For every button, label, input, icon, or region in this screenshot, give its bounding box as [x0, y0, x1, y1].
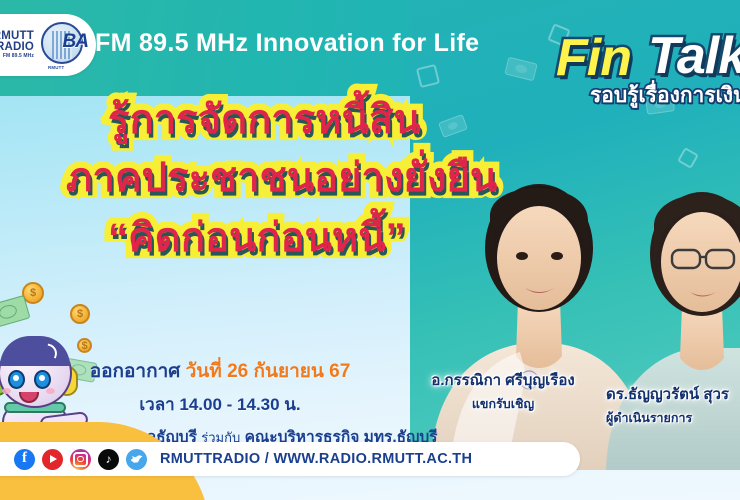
instagram-icon[interactable] [70, 449, 91, 470]
program-logo-fin: Fin [556, 32, 631, 84]
facebook-icon[interactable] [14, 449, 35, 470]
air-time: เวลา 14.00 - 14.30 น. [0, 391, 440, 418]
headline-block: รู้การจัดการหนี้สิน ภาคประชาชนอย่างยั่งย… [52, 96, 472, 282]
speaker-caption-host: ดร.ธัญญวรัตน์ สุวร ผู้ดำเนินรายการ [606, 382, 740, 428]
headline-line-1: รู้การจัดการหนี้สิน [108, 100, 421, 140]
station-logo-wordmark: RMUTT RADIO FM 89.5 MHz [0, 31, 34, 60]
air-date: วันที่ 26 กันยายน 67 [186, 361, 351, 382]
speaker-role: แขกรับเชิญ [412, 394, 594, 414]
twitter-icon[interactable] [126, 449, 147, 470]
ba-logo-subtext: RMUTT [48, 65, 64, 70]
tiktok-icon[interactable] [98, 449, 119, 470]
speaker-role: ผู้ดำเนินรายการ [606, 408, 740, 428]
ba-logo-text: BA [63, 31, 88, 53]
coin-icon: $ [70, 304, 90, 324]
social-handle-and-website[interactable]: RMUTTRADIO / WWW.RADIO.RMUTT.AC.TH [160, 451, 472, 467]
air-label: ออกอากาศ [90, 361, 181, 382]
program-logo-talk: Talk [648, 30, 740, 82]
station-logo: RMUTT RADIO FM 89.5 MHz BA RMUTT [0, 14, 96, 76]
ba-faculty-logo: BA RMUTT [39, 21, 87, 69]
social-footer-bar: RMUTTRADIO / WWW.RADIO.RMUTT.AC.TH [0, 442, 580, 476]
air-date-line: ออกอากาศ วันที่ 26 กันยายน 67 [0, 356, 440, 386]
station-logo-frequency: FM 89.5 MHz [0, 54, 34, 59]
headline-line-2: ภาคประชาชนอย่างยั่งยืน [66, 158, 497, 198]
program-logo-subtitle: รอบรู้เรื่องการเงิน [590, 79, 740, 112]
speaker-caption-guest: อ.กรรณิกา ศรีบุญเรือง แขกรับเชิญ [412, 368, 594, 414]
headline-line-3: “คิดก่อนก่อนหนี้” [108, 218, 406, 258]
youtube-icon[interactable] [42, 449, 63, 470]
speaker-name: ดร.ธัญญวรัตน์ สุวร [606, 382, 740, 406]
speaker-name: อ.กรรณิกา ศรีบุญเรือง [412, 368, 594, 392]
program-logo: Fin Talk รอบรู้เรื่องการเงิน [556, 16, 740, 114]
fm-tagline: FM 89.5 MHz Innovation for Life [95, 29, 479, 58]
poster-canvas: $ $ $ RMUTT RADIO FM 89.5 MHz BA RMUTT F… [0, 0, 740, 500]
